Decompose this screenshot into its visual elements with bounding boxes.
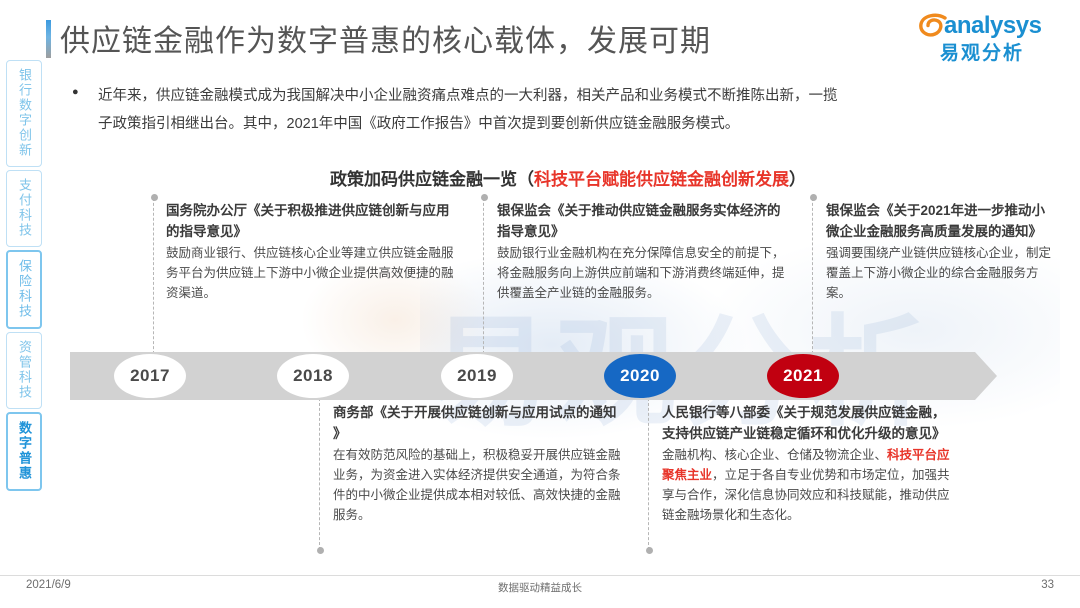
slide-root: 易观分析 供应链金融作为数字普惠的核心载体，发展可期 analysys 易观分析… [0,0,1080,608]
connector-dot-2020 [646,547,653,554]
connector-dot-2019 [481,194,488,201]
timeline-node-2018[interactable]: 2018 [277,354,349,398]
policy-card-2020-body-pre: 金融机构、核心企业、仓储及物流企业、 [662,448,887,462]
timeline-node-2017[interactable]: 2017 [114,354,186,398]
connector-line-2018 [319,398,321,550]
connector-line-2021 [812,198,814,354]
connector-line-2017 [153,198,155,354]
sidebar-item-insurance-tech[interactable]: 保险科技 [6,250,42,329]
intro-line-1: 近年来，供应链金融模式成为我国解决中小企业融资痛点难点的一大利器，相关产品和业务… [98,82,1028,110]
section-subtitle-highlight: 科技平台赋能供应链金融创新发展 [534,170,789,189]
section-subtitle-tail: ） [789,170,806,189]
policy-card-2020[interactable]: 人民银行等八部委《关于规范发展供应链金融，支持供应链产业链稳定循环和优化升级的意… [662,402,958,525]
intro-line-2: 子政策指引相继出台。其中，2021年中国《政府工作报告》中首次提到要创新供应链金… [98,110,1028,138]
footer-slogan: 数据驱动精益成长 [0,580,1080,595]
logo-wordmark: analysys [944,12,1041,40]
policy-card-2019-heading: 银保监会《关于推动供应链金融服务实体经济的指导意见》 [497,200,787,242]
connector-dot-2017 [151,194,158,201]
sidebar-item-payment-tech[interactable]: 支付科技 [6,170,42,247]
policy-card-2019[interactable]: 银保监会《关于推动供应链金融服务实体经济的指导意见》 鼓励银行业金融机构在充分保… [497,200,787,303]
bullet-marker: ● [72,86,79,98]
intro-paragraph: 近年来，供应链金融模式成为我国解决中小企业融资痛点难点的一大利器，相关产品和业务… [98,82,1028,138]
policy-card-2019-body: 鼓励银行业金融机构在充分保障信息安全的前提下，将金融服务向上游供应前端和下游消费… [497,243,787,303]
timeline-node-2021[interactable]: 2021 [767,354,839,398]
analysys-logo: analysys 易观分析 [920,12,1052,64]
connector-line-2019 [483,198,485,354]
footer-page-number: 33 [1041,579,1054,591]
timeline-node-2020[interactable]: 2020 [604,354,676,398]
policy-card-2020-body: 金融机构、核心企业、仓储及物流企业、科技平台应聚焦主业，立足于各自专业优势和市场… [662,445,958,525]
title-accent-bar [46,20,51,58]
policy-card-2017-body: 鼓励商业银行、供应链核心企业等建立供应链金融服务平台为供应链上下游中小微企业提供… [166,243,456,303]
connector-dot-2018 [317,547,324,554]
policy-card-2018[interactable]: 商务部《关于开展供应链创新与应用试点的通知 》 在有效防范风险的基础上，积极稳妥… [333,402,623,525]
connector-line-2020 [648,398,650,550]
timeline-band [70,352,975,400]
policy-card-2021-heading: 银保监会《关于2021年进一步推动小微企业金融服务高质量发展的通知》 [826,200,1054,242]
policy-card-2020-heading: 人民银行等八部委《关于规范发展供应链金融，支持供应链产业链稳定循环和优化升级的意… [662,402,958,444]
connector-dot-2021 [810,194,817,201]
sidebar-item-digital-inclusive-finance[interactable]: 数字普惠 [6,412,42,491]
footer: 2021/6/9 数据驱动精益成长 33 [0,575,1080,600]
sidebar: 银行数字创新 支付科技 保险科技 资管科技 数字普惠 [6,60,42,494]
policy-card-2021-body: 强调要围绕产业链供应链核心企业，制定覆盖上下游小微企业的综合金融服务方案。 [826,243,1054,303]
timeline-node-2019[interactable]: 2019 [441,354,513,398]
page-title: 供应链金融作为数字普惠的核心载体，发展可期 [60,16,711,60]
section-subtitle: 政策加码供应链金融一览（科技平台赋能供应链金融创新发展） [330,165,806,190]
policy-card-2017[interactable]: 国务院办公厅《关于积极推进供应链创新与应用的指导意见》 鼓励商业银行、供应链核心… [166,200,456,303]
sidebar-item-asset-management-tech[interactable]: 资管科技 [6,332,42,409]
logo-chinese-name: 易观分析 [940,38,1024,65]
policy-card-2018-heading: 商务部《关于开展供应链创新与应用试点的通知 》 [333,402,623,444]
policy-card-2017-heading: 国务院办公厅《关于积极推进供应链创新与应用的指导意见》 [166,200,456,242]
sidebar-item-bank-digital-innovation[interactable]: 银行数字创新 [6,60,42,167]
timeline-band-arrow [975,352,997,400]
policy-card-2018-body: 在有效防范风险的基础上，积极稳妥开展供应链金融业务，为资金进入实体经济提供安全通… [333,445,623,525]
section-subtitle-main: 政策加码供应链金融一览（ [330,170,534,189]
policy-card-2021[interactable]: 银保监会《关于2021年进一步推动小微企业金融服务高质量发展的通知》 强调要围绕… [826,200,1054,303]
